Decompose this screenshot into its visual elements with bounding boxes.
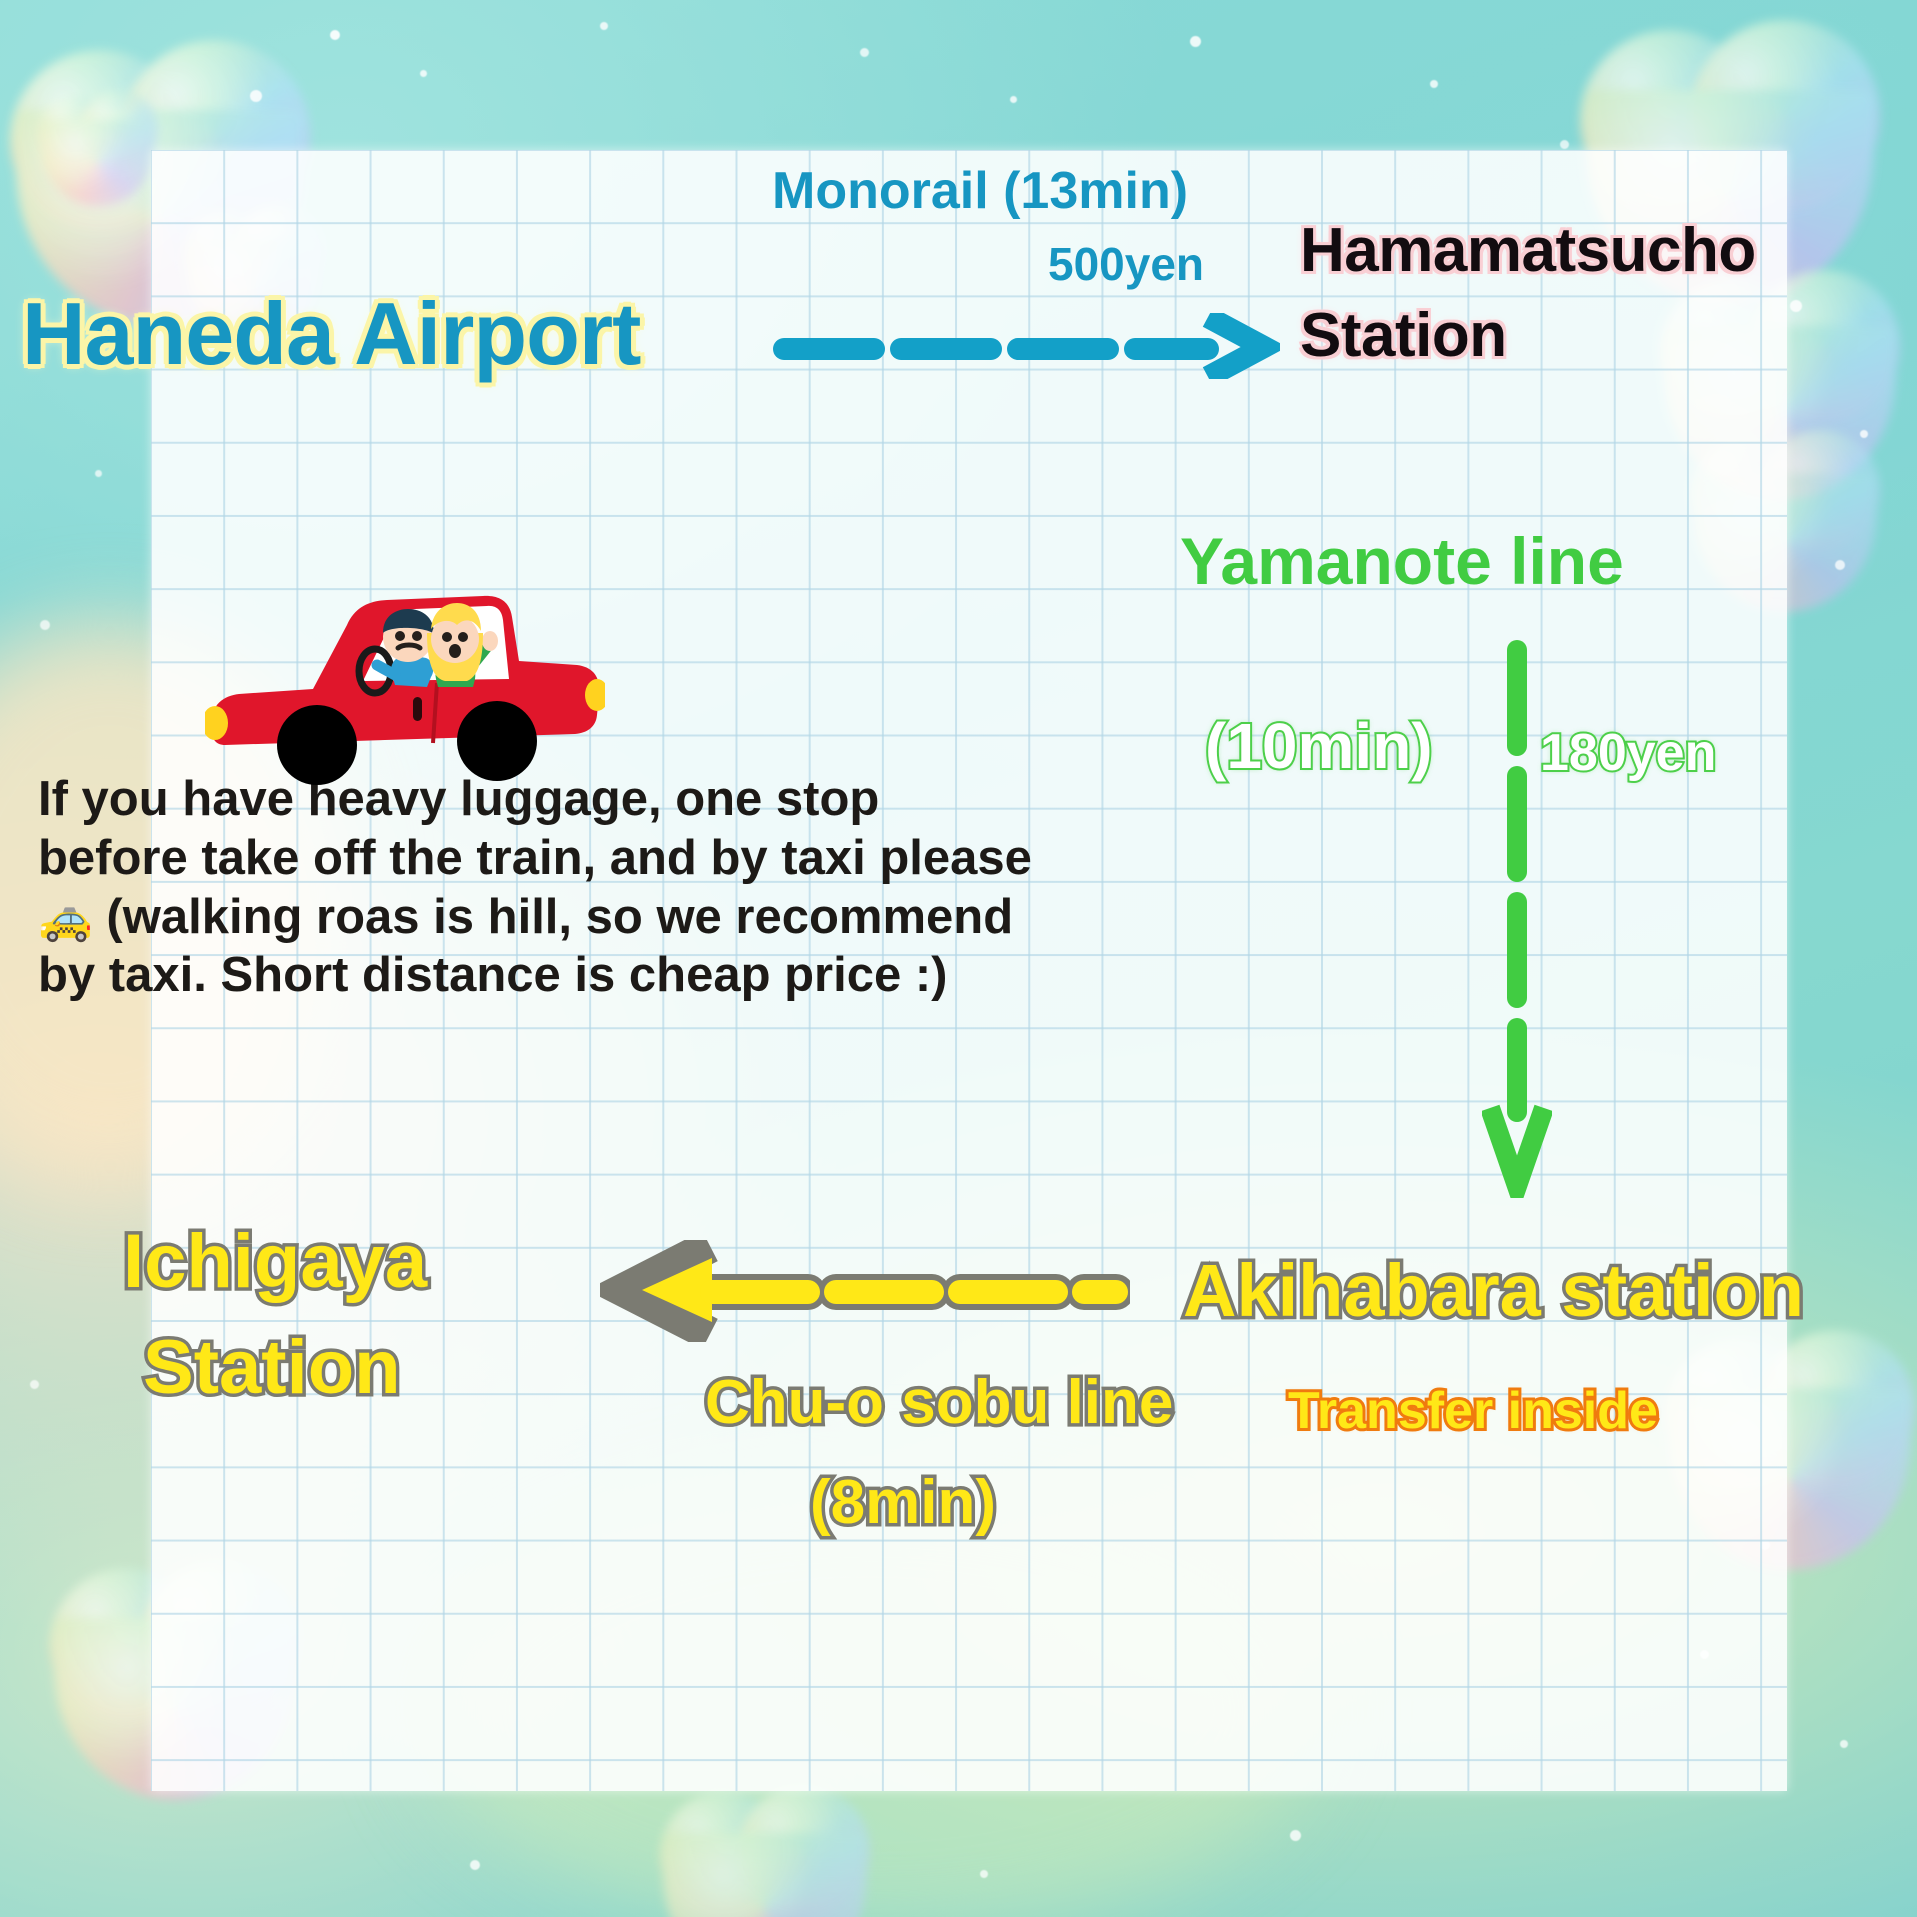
luggage-note-paragraph: If you have heavy luggage, one stop befo… — [38, 770, 1038, 1005]
ichigaya-line1: Ichigaya — [123, 1219, 427, 1304]
note-text-after: (walking roas is hill, so we recommend b… — [38, 890, 1013, 1003]
ichigaya-station-label: Ichigaya Station — [123, 1222, 427, 1408]
hamamatsucho-station-label: Hamamatsucho Station — [1300, 218, 1756, 368]
yamanote-arrow-down-icon — [1482, 638, 1552, 1198]
monorail-line-label: Monorail (13min) — [772, 164, 1188, 219]
yamanote-fare-label: 180yen — [1540, 726, 1716, 781]
chuo-sobu-arrow-left-icon — [600, 1240, 1130, 1342]
hamamatsucho-line2: Station — [1300, 303, 1756, 368]
chuo-sobu-duration-label: (8min) — [810, 1470, 996, 1535]
route-map-content: Monorail (13min) 500yen Haneda Airport H… — [0, 0, 1917, 1917]
transfer-inside-note: Transfer inside — [1288, 1384, 1658, 1439]
akihabara-station-label: Akihabara station — [1183, 1252, 1804, 1330]
ichigaya-line2: Station — [123, 1328, 427, 1408]
red-car-illustration — [205, 555, 605, 795]
yamanote-line-label: Yamanote line — [1180, 527, 1624, 596]
monorail-fare-label: 500yen — [1048, 240, 1204, 288]
rear-wheel — [457, 701, 537, 781]
hamamatsucho-line1: Hamamatsucho — [1300, 216, 1756, 285]
taxi-emoji-icon: 🚕 — [38, 894, 93, 943]
origin-station-label: Haneda Airport — [22, 288, 640, 380]
monorail-arrow-right-icon — [768, 313, 1280, 379]
chuo-sobu-line-label: Chu-o sobu line — [705, 1370, 1173, 1435]
front-wheel — [277, 705, 357, 785]
yamanote-duration-label: (10min) — [1205, 713, 1433, 780]
